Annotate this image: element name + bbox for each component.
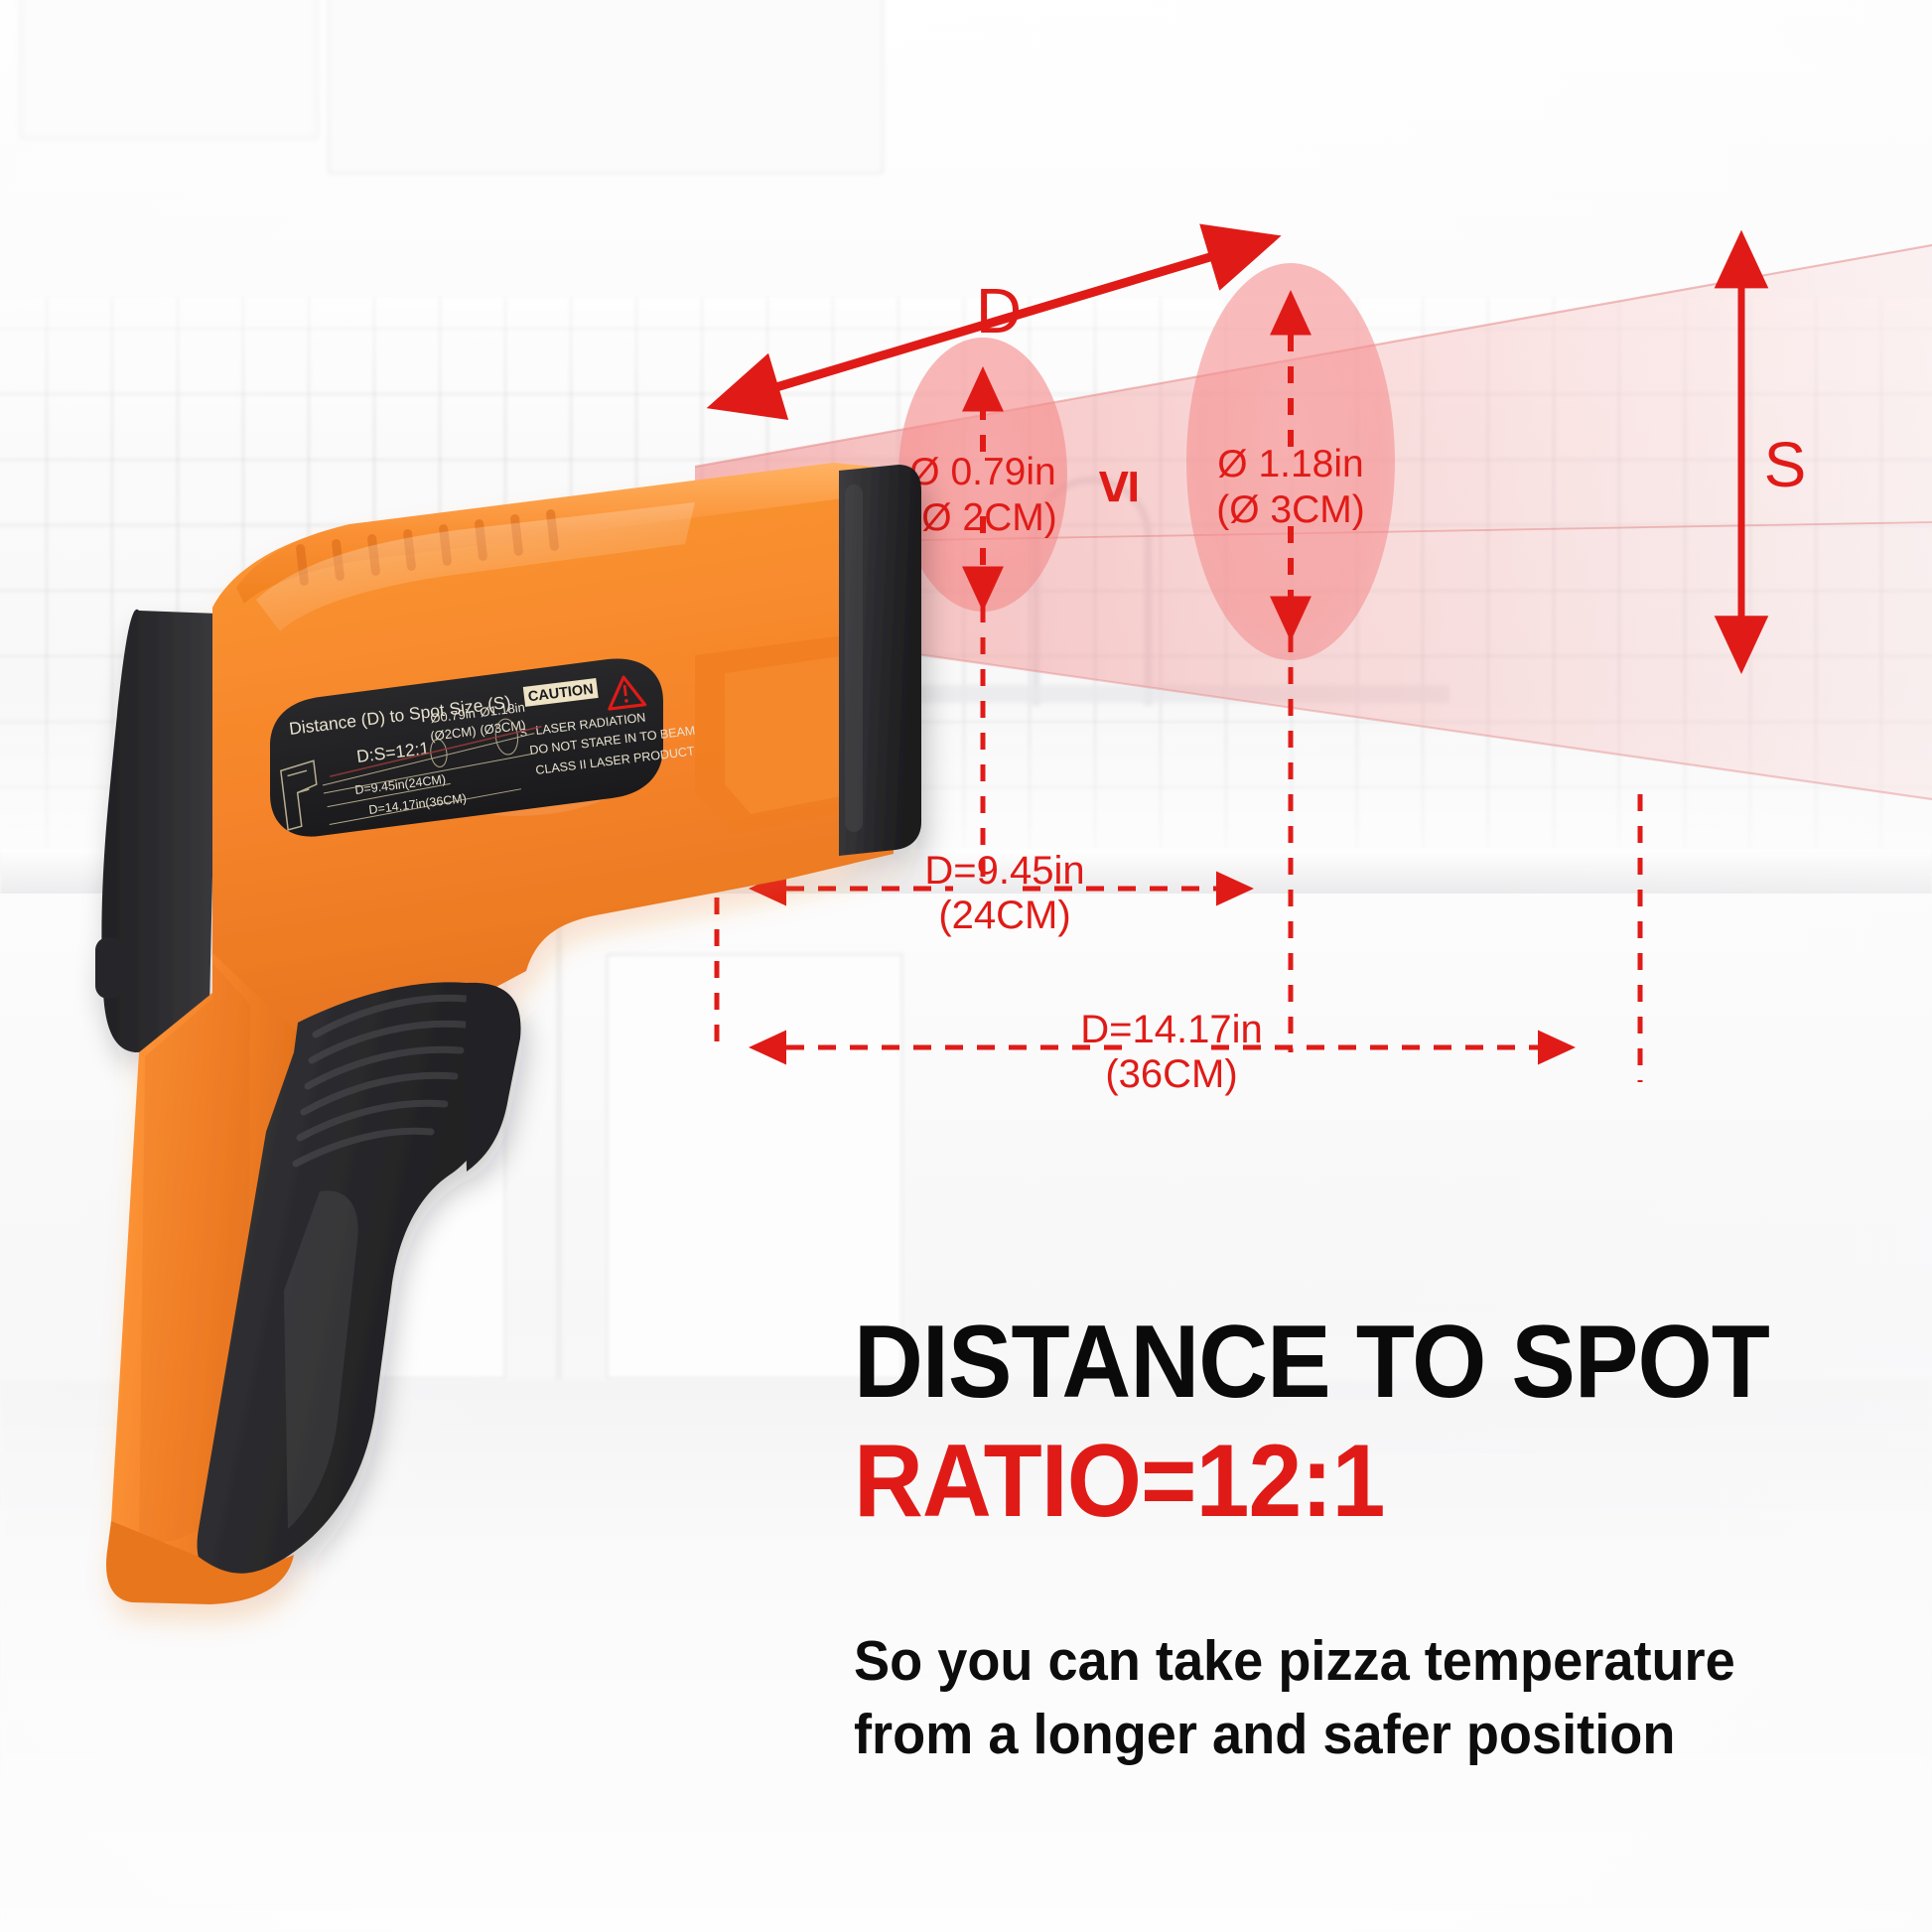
- headline-line-1: DISTANCE TO SPOT: [854, 1311, 1796, 1414]
- subheadline-line-2: from a longer and safer position: [854, 1698, 1816, 1771]
- thermometer-body-group: [95, 463, 921, 1604]
- label-spot-marker: S: [519, 727, 528, 740]
- subheadline-line-1: So you can take pizza temperature: [854, 1624, 1816, 1698]
- trigger-recess: [465, 983, 521, 1172]
- nose-highlight: [845, 484, 863, 832]
- side-button: [95, 937, 123, 999]
- infographic-canvas: D S ≤ Ø 0.79in (Ø 2CM) Ø 1.18in (Ø 3CM): [0, 0, 1932, 1932]
- headline-line-2: RATIO=12:1: [854, 1430, 1796, 1533]
- marketing-copy-block: DISTANCE TO SPOT RATIO=12:1 So you can t…: [854, 1311, 1866, 1771]
